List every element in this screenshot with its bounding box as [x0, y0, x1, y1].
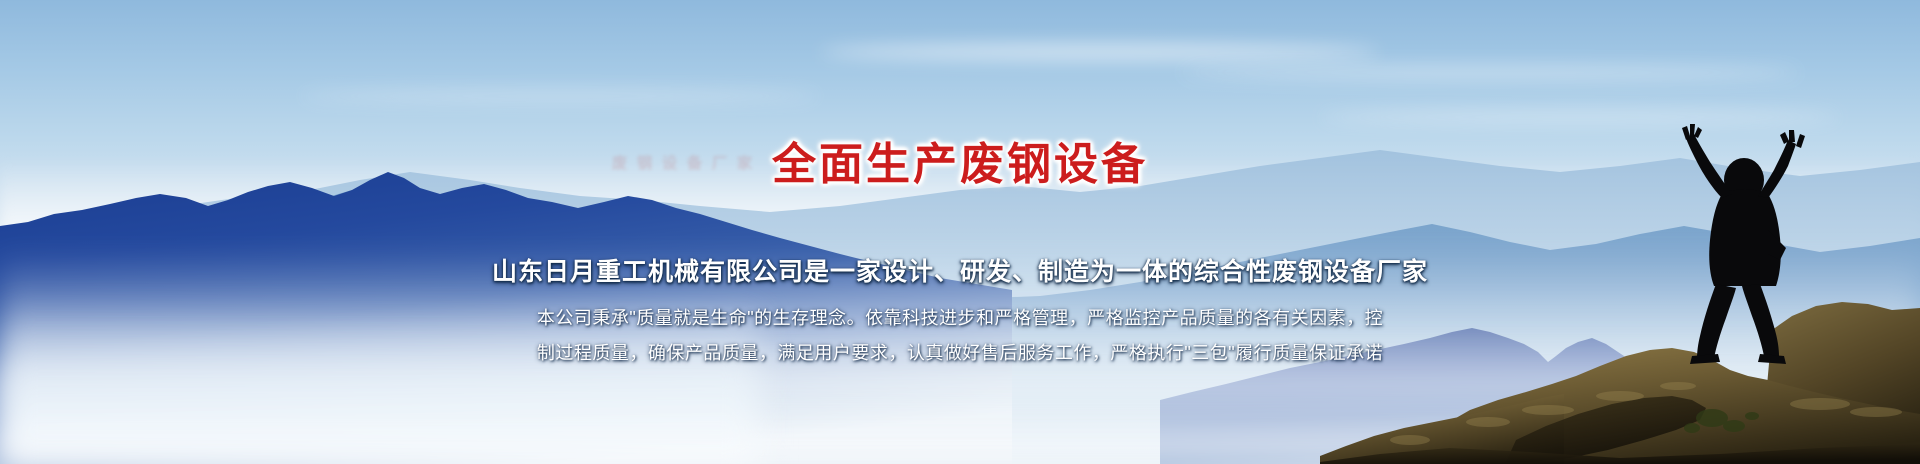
valley-mist-left	[0, 300, 760, 464]
person-silhouette-victory-pose	[1656, 108, 1836, 368]
hero-banner: 废钢设备厂家 全面生产废钢设备 山东日月重工机械有限公司是一家设计、研发、制造为…	[0, 0, 1920, 464]
